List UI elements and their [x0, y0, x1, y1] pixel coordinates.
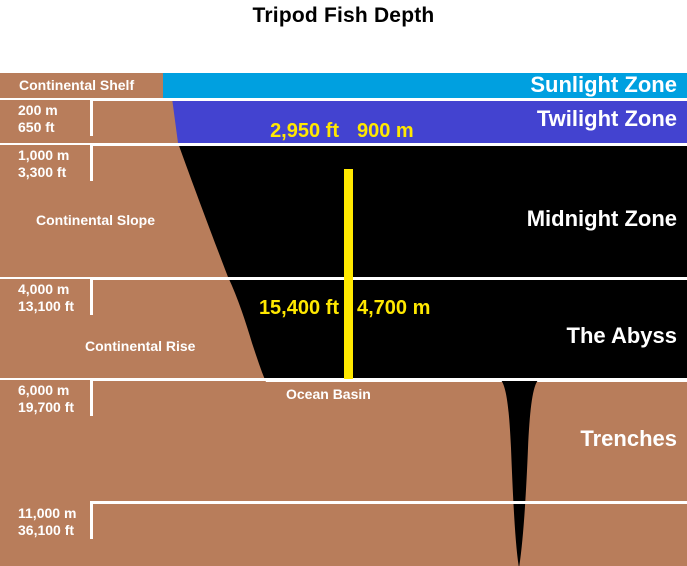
- depth-diagram-body: 200 m 650 ft 1,000 m 3,300 ft 4,000 m 13…: [0, 73, 687, 566]
- zone-label-midnight: Midnight Zone: [527, 206, 677, 232]
- marker-top-metric: 900 m: [357, 120, 414, 143]
- zone-label-sunlight: Sunlight Zone: [530, 72, 677, 98]
- depth-rule-6000m: [90, 378, 687, 381]
- depth-label-11000m-imperial: 36,100 ft: [18, 522, 98, 539]
- depth-label-4000m: 4,000 m 13,100 ft: [18, 281, 98, 315]
- zone-label-abyss: The Abyss: [567, 323, 677, 349]
- depth-label-4000m-imperial: 13,100 ft: [18, 298, 98, 315]
- marker-top-imperial: 2,950 ft: [184, 120, 339, 143]
- marker-bottom-metric: 4,700 m: [357, 297, 430, 320]
- zone-label-trenches: Trenches: [580, 426, 677, 452]
- depth-label-1000m: 1,000 m 3,300 ft: [18, 147, 98, 181]
- depth-rule-1000m: [90, 143, 687, 146]
- depth-label-200m-imperial: 650 ft: [18, 119, 98, 136]
- depth-label-200m: 200 m 650 ft: [18, 102, 98, 136]
- ocean-depth-diagram: Tripod Fish Depth: [0, 0, 687, 566]
- depth-label-200m-metric: 200 m: [18, 102, 98, 119]
- depth-label-11000m: 11,000 m 36,100 ft: [18, 505, 98, 539]
- marker-bottom-imperial: 15,400 ft: [174, 297, 339, 320]
- feature-label-ocean-basin: Ocean Basin: [286, 386, 371, 402]
- feature-label-continental-rise: Continental Rise: [85, 338, 195, 354]
- depth-rule-4000m: [90, 277, 687, 280]
- zone-label-twilight: Twilight Zone: [537, 106, 677, 132]
- depth-label-6000m-metric: 6,000 m: [18, 382, 98, 399]
- depth-range-marker-bar: [344, 169, 353, 379]
- zone-band-trenches: [0, 382, 687, 566]
- depth-label-4000m-metric: 4,000 m: [18, 281, 98, 298]
- trench-shape: [490, 378, 550, 566]
- depth-rule-11000m: [90, 501, 687, 504]
- feature-label-continental-shelf: Continental Shelf: [19, 77, 134, 93]
- depth-label-1000m-metric: 1,000 m: [18, 147, 98, 164]
- page-title: Tripod Fish Depth: [0, 4, 687, 28]
- depth-label-1000m-imperial: 3,300 ft: [18, 164, 98, 181]
- depth-label-6000m: 6,000 m 19,700 ft: [18, 382, 98, 416]
- depth-rule-200m: [90, 98, 687, 101]
- depth-label-6000m-imperial: 19,700 ft: [18, 399, 98, 416]
- depth-label-11000m-metric: 11,000 m: [18, 505, 98, 522]
- feature-label-continental-slope: Continental Slope: [36, 212, 155, 228]
